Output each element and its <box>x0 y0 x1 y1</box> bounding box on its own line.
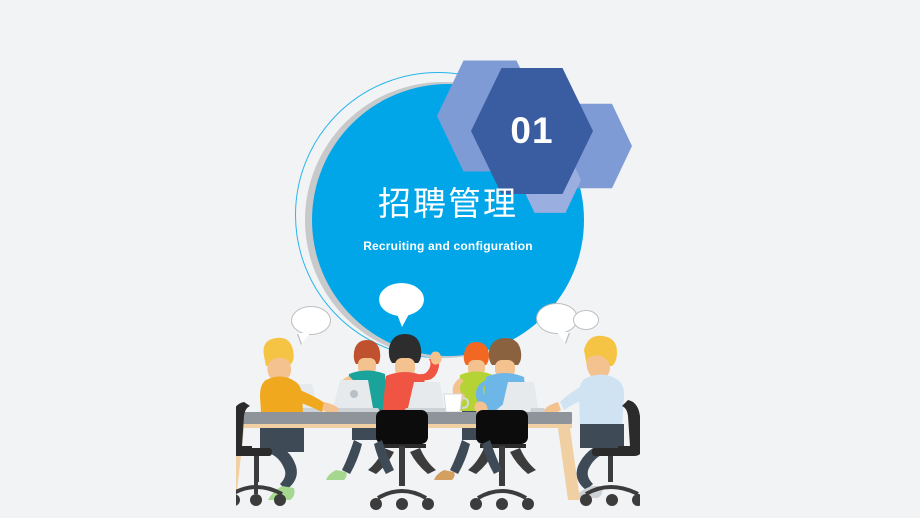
title-block: 招聘管理 Recruiting and configuration <box>312 185 584 253</box>
page-subtitle: Recruiting and configuration <box>312 239 584 253</box>
team-meeting-illustration <box>236 318 640 518</box>
speech-bubble-center-body <box>379 283 424 316</box>
slide-canvas: 01 招聘管理 Recruiting and configuration <box>0 0 920 518</box>
speech-bubble-center <box>379 283 424 316</box>
office-chair-2 <box>368 410 436 510</box>
office-chair-3 <box>468 410 536 510</box>
page-title: 招聘管理 <box>312 185 584 226</box>
section-number: 01 <box>510 110 553 152</box>
